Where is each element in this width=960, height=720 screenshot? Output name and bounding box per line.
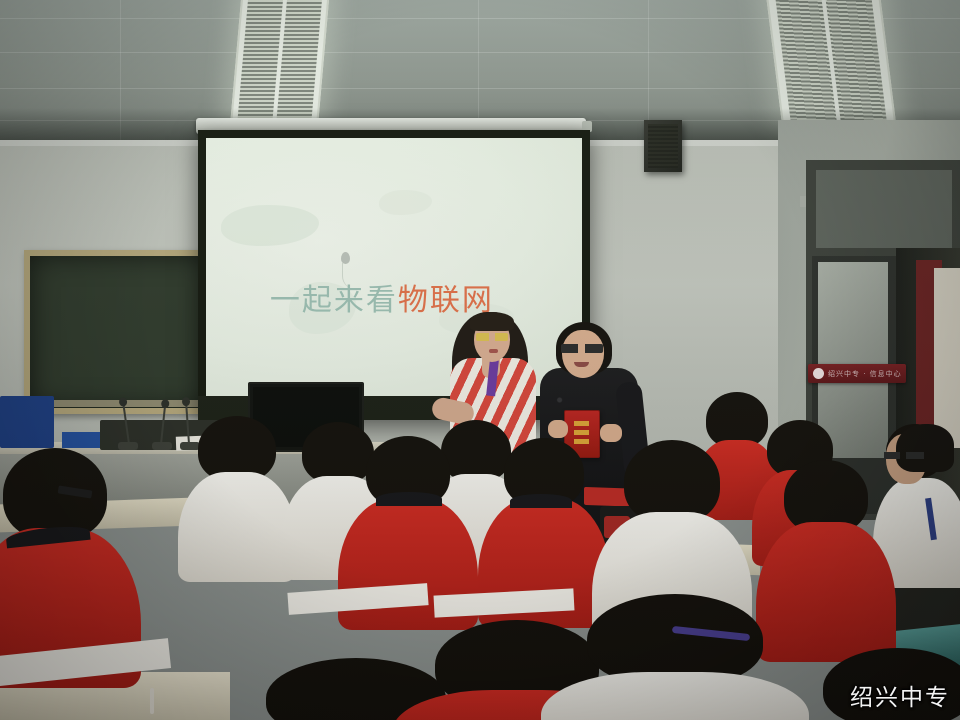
man-hand-left — [548, 420, 568, 438]
wall-sign: 绍兴中专 · 信息中心 — [808, 364, 906, 383]
corridor-light-panel — [934, 268, 960, 448]
student-profile-right-hair — [896, 424, 954, 472]
student-profile-right-glasses — [884, 452, 924, 459]
man-face — [562, 330, 604, 378]
school-emblem-icon — [813, 368, 824, 379]
chalkboard — [24, 250, 222, 414]
wall-sign-text: 绍兴中专 · 信息中心 — [828, 369, 901, 379]
wall-speaker — [644, 120, 682, 172]
student-front-left-red — [0, 448, 120, 678]
ceiling-light-fixture-left — [230, 0, 330, 124]
microphone-1-base — [118, 442, 138, 450]
student-front-right-white — [560, 594, 790, 720]
pen-front — [150, 688, 154, 714]
microphone-2-base — [152, 442, 172, 450]
slide-title-part-1: 一起来看 — [270, 283, 398, 318]
student-mid-red-2-collar — [510, 494, 572, 508]
door-transom-window — [816, 170, 952, 248]
woman-mouth — [489, 349, 498, 353]
student-mid-red-1-collar — [376, 492, 442, 506]
blue-equipment-case — [0, 396, 54, 448]
woman-glasses — [476, 333, 508, 341]
woman-fringe — [470, 312, 514, 331]
slide-title: 一起来看物联网 — [270, 275, 563, 319]
map-pin-icon — [341, 252, 350, 264]
man-glasses — [561, 344, 603, 353]
watermark: 绍兴中专 — [850, 678, 950, 712]
student-mid-white-1 — [188, 416, 286, 576]
classroom-photo-scene: 一起来看物联网 绍兴中专 · 信息中心 — [0, 0, 960, 720]
